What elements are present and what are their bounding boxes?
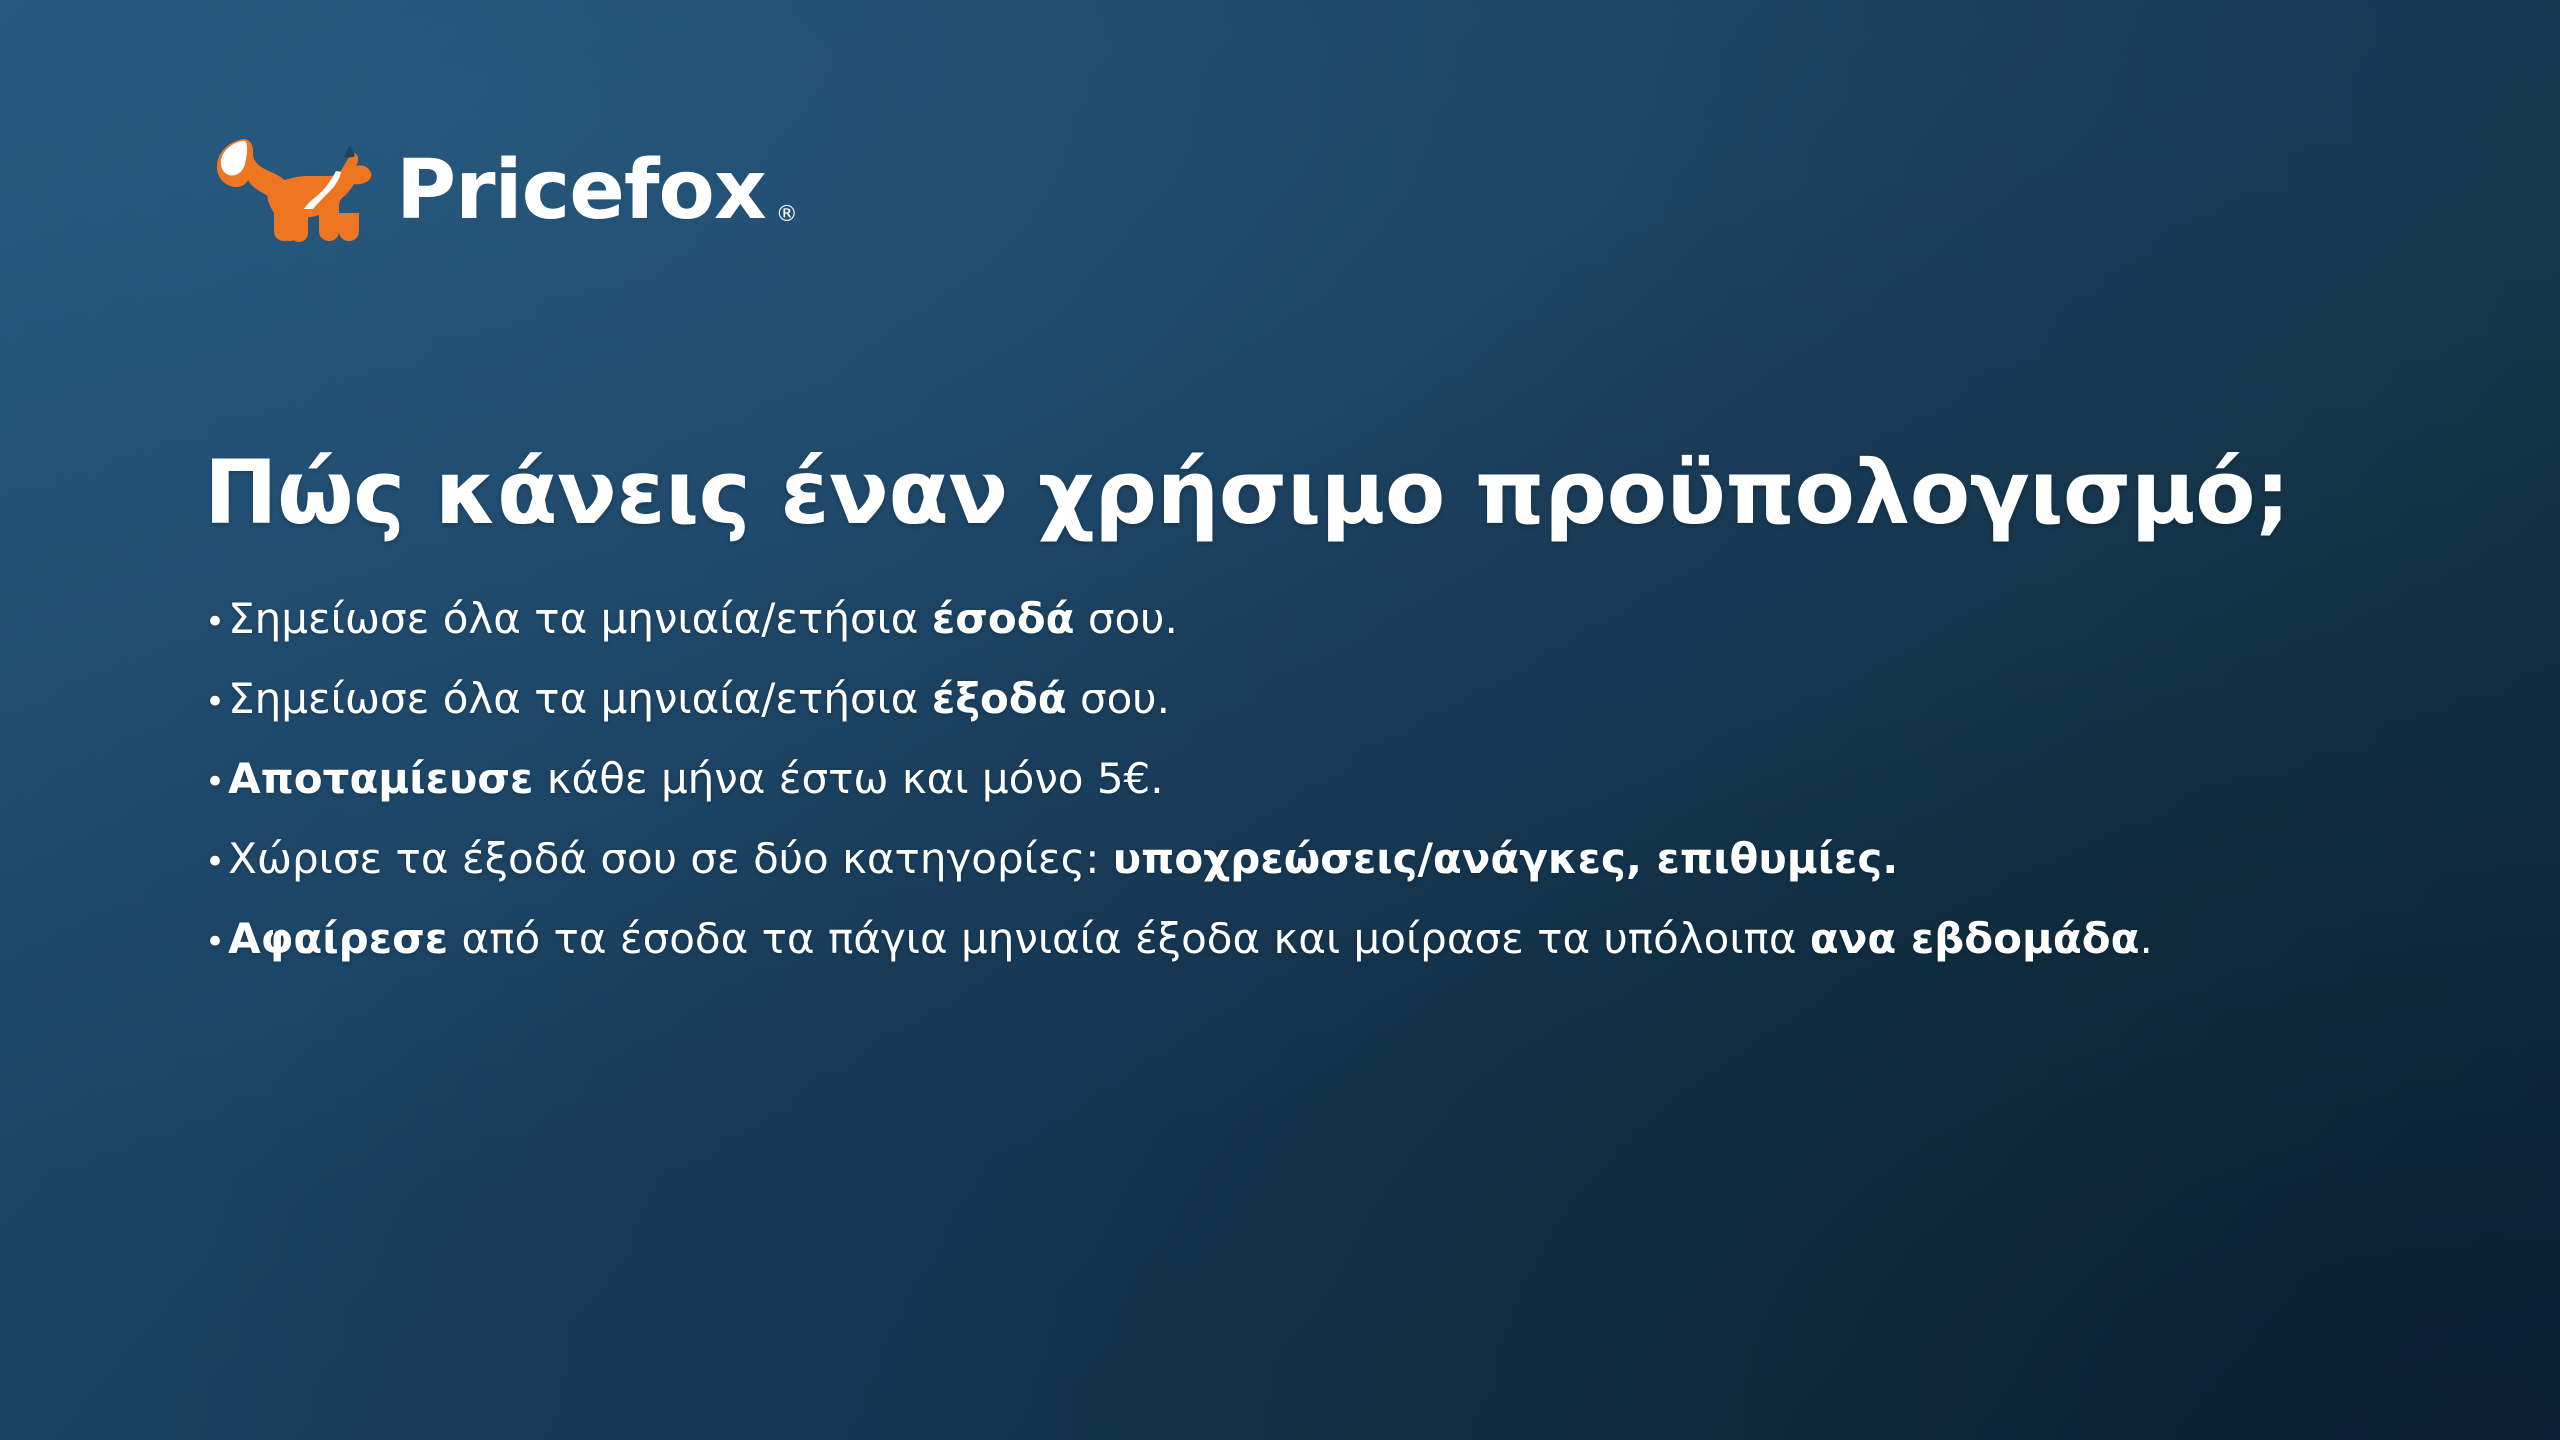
slide-content: Pricefox ® Πώς κάνεις έναν χρήσιμο προϋπ… xyxy=(0,0,2560,1440)
fox-logo-icon xyxy=(208,127,380,255)
bullet-marker-icon: • xyxy=(205,685,225,719)
bullet-item: • Χώρισε τα έξοδά σου σε δύο κατηγορίες:… xyxy=(205,838,2455,918)
bullet-item: • Αφαίρεσε από τα έσοδα τα πάγια μηνιαία… xyxy=(205,918,2455,998)
bullet-item: • Αποταμίευσε κάθε μήνα έστω και μόνο 5€… xyxy=(205,758,2455,838)
bullet-text: Σημείωσε όλα τα μηνιαία/ετήσια έξοδά σου… xyxy=(228,678,2455,720)
registered-trademark-symbol: ® xyxy=(776,204,798,226)
presentation-slide: Pricefox ® Πώς κάνεις έναν χρήσιμο προϋπ… xyxy=(0,0,2560,1440)
bullet-text: Σημείωσε όλα τα μηνιαία/ετήσια έσοδά σου… xyxy=(228,598,2455,640)
bullet-marker-icon: • xyxy=(205,845,225,879)
brand-wordmark-text: Pricefox xyxy=(396,150,766,232)
bullet-text: Αποταμίευσε κάθε μήνα έστω και μόνο 5€. xyxy=(228,758,2455,800)
slide-title: Πώς κάνεις έναν χρήσιμο προϋπολογισμό; xyxy=(204,445,2404,540)
bullet-item: • Σημείωσε όλα τα μηνιαία/ετήσια έσοδά σ… xyxy=(205,598,2455,678)
bullet-list: • Σημείωσε όλα τα μηνιαία/ετήσια έσοδά σ… xyxy=(205,598,2455,998)
bullet-marker-icon: • xyxy=(205,605,225,639)
brand-wordmark: Pricefox ® xyxy=(396,150,798,232)
bullet-marker-icon: • xyxy=(205,925,225,959)
bullet-text: Αφαίρεσε από τα έσοδα τα πάγια μηνιαία έ… xyxy=(228,918,2455,960)
brand-logo: Pricefox ® xyxy=(208,132,798,250)
bullet-item: • Σημείωσε όλα τα μηνιαία/ετήσια έξοδά σ… xyxy=(205,678,2455,758)
bullet-marker-icon: • xyxy=(205,765,225,799)
bullet-text: Χώρισε τα έξοδά σου σε δύο κατηγορίες: υ… xyxy=(228,838,2455,880)
